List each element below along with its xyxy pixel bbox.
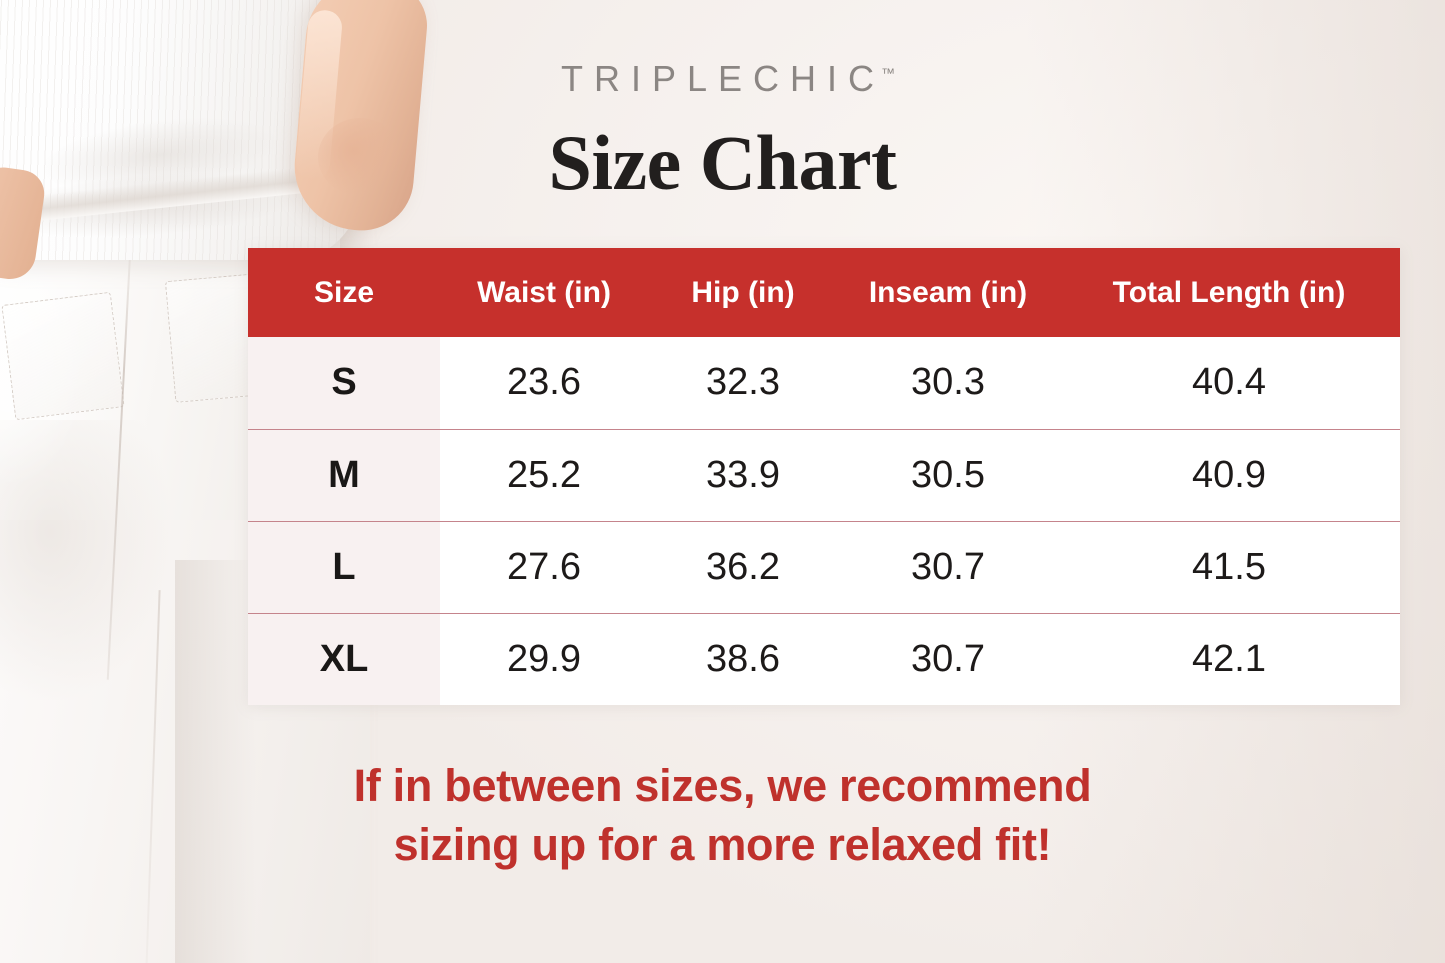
page-title: Size Chart <box>0 118 1445 208</box>
table-header: Size Waist (in) Hip (in) Inseam (in) Tot… <box>248 248 1400 337</box>
cell-waist: 27.6 <box>440 521 648 613</box>
cell-hip: 36.2 <box>648 521 838 613</box>
cell-inseam: 30.5 <box>838 429 1058 521</box>
column-header-inseam: Inseam (in) <box>838 248 1058 337</box>
table-row: M 25.2 33.9 30.5 40.9 <box>248 429 1400 521</box>
cell-inseam: 30.3 <box>838 337 1058 429</box>
table-body: S 23.6 32.3 30.3 40.4 M 25.2 33.9 30.5 4… <box>248 337 1400 705</box>
chart-content: TRIPLECHIC™ Size Chart Size Waist (in) H… <box>0 0 1445 963</box>
cell-waist: 29.9 <box>440 613 648 705</box>
size-chart-table: Size Waist (in) Hip (in) Inseam (in) Tot… <box>248 248 1400 705</box>
trademark-symbol: ™ <box>881 65 895 81</box>
cell-size: S <box>248 337 440 429</box>
cell-inseam: 30.7 <box>838 521 1058 613</box>
note-line-1: If in between sizes, we recommend <box>0 756 1445 815</box>
table-row: XL 29.9 38.6 30.7 42.1 <box>248 613 1400 705</box>
column-header-size: Size <box>248 248 440 337</box>
cell-hip: 32.3 <box>648 337 838 429</box>
note-line-2: sizing up for a more relaxed fit! <box>0 815 1445 874</box>
cell-size: XL <box>248 613 440 705</box>
size-chart-page: TRIPLECHIC™ Size Chart Size Waist (in) H… <box>0 0 1445 963</box>
cell-size: M <box>248 429 440 521</box>
cell-total-length: 40.9 <box>1058 429 1400 521</box>
cell-inseam: 30.7 <box>838 613 1058 705</box>
fit-recommendation-note: If in between sizes, we recommend sizing… <box>0 756 1445 875</box>
cell-total-length: 41.5 <box>1058 521 1400 613</box>
column-header-hip: Hip (in) <box>648 248 838 337</box>
cell-hip: 33.9 <box>648 429 838 521</box>
cell-waist: 25.2 <box>440 429 648 521</box>
cell-hip: 38.6 <box>648 613 838 705</box>
cell-size: L <box>248 521 440 613</box>
cell-waist: 23.6 <box>440 337 648 429</box>
column-header-waist: Waist (in) <box>440 248 648 337</box>
table-row: S 23.6 32.3 30.3 40.4 <box>248 337 1400 429</box>
brand-logo: TRIPLECHIC™ <box>0 58 1445 100</box>
brand-name: TRIPLECHIC <box>561 58 885 99</box>
column-header-total-length: Total Length (in) <box>1058 248 1400 337</box>
table-header-row: Size Waist (in) Hip (in) Inseam (in) Tot… <box>248 248 1400 337</box>
cell-total-length: 42.1 <box>1058 613 1400 705</box>
cell-total-length: 40.4 <box>1058 337 1400 429</box>
table-row: L 27.6 36.2 30.7 41.5 <box>248 521 1400 613</box>
